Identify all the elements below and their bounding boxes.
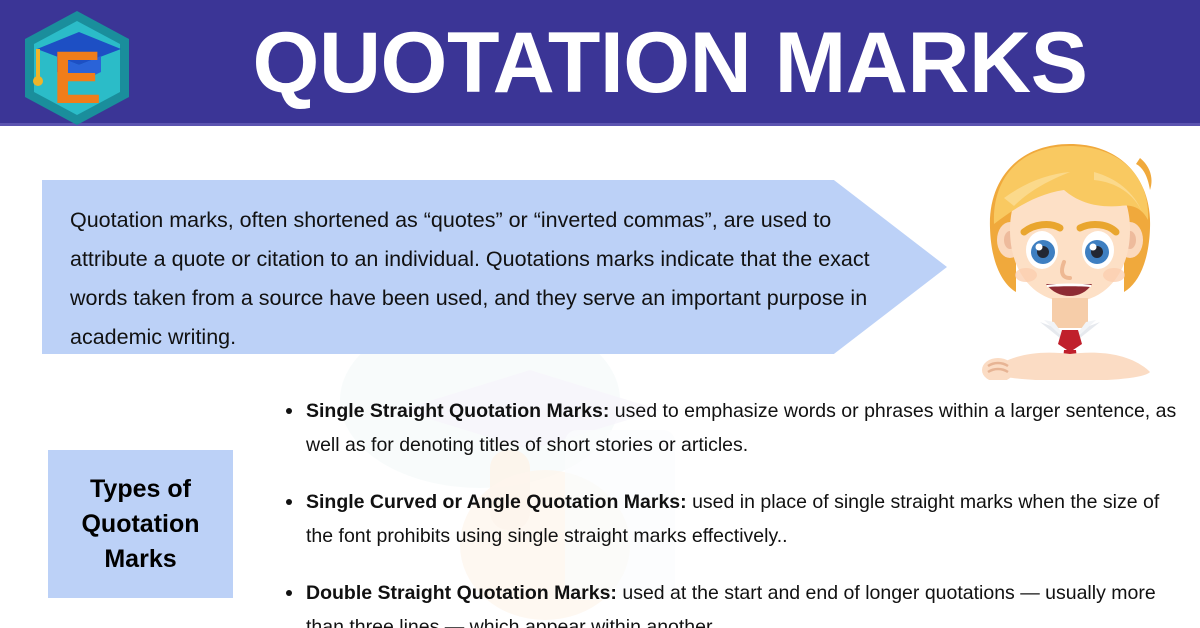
intro-text: Quotation marks, often shortened as “quo… [70,201,870,357]
list-item-term: Single Curved or Angle Quotation Marks: [306,491,687,513]
list-item: Single Curved or Angle Quotation Marks: … [284,485,1189,553]
cartoon-schoolboy [944,132,1196,380]
bullet-dot-icon [286,499,292,505]
types-label-line-1: Types of [90,475,191,503]
quotation-types-list: Single Straight Quotation Marks: used to… [284,394,1189,628]
infographic-page: E QUOTATION MARKS Quotation marks, often… [0,0,1200,628]
list-item: Single Straight Quotation Marks: used to… [284,394,1189,462]
page-title: QUOTATION MARKS [200,0,1140,126]
bullet-dot-icon [286,408,292,414]
types-label-box: Types of Quotation Marks [48,450,233,598]
bullet-dot-icon [286,590,292,596]
page-header: E QUOTATION MARKS [0,0,1200,126]
types-label-line-2: Quotation [81,510,199,538]
list-item: Double Straight Quotation Marks: used at… [284,576,1189,628]
types-label-line-3: Marks [104,545,176,573]
svg-text:E: E [52,36,101,119]
intro-callout: Quotation marks, often shortened as “quo… [42,180,947,354]
types-label-text: Types of Quotation Marks [81,472,199,577]
list-item-term: Single Straight Quotation Marks: [306,400,609,422]
list-item-term: Double Straight Quotation Marks: [306,582,617,604]
e-hexagon-graduation-logo: E [17,8,137,128]
